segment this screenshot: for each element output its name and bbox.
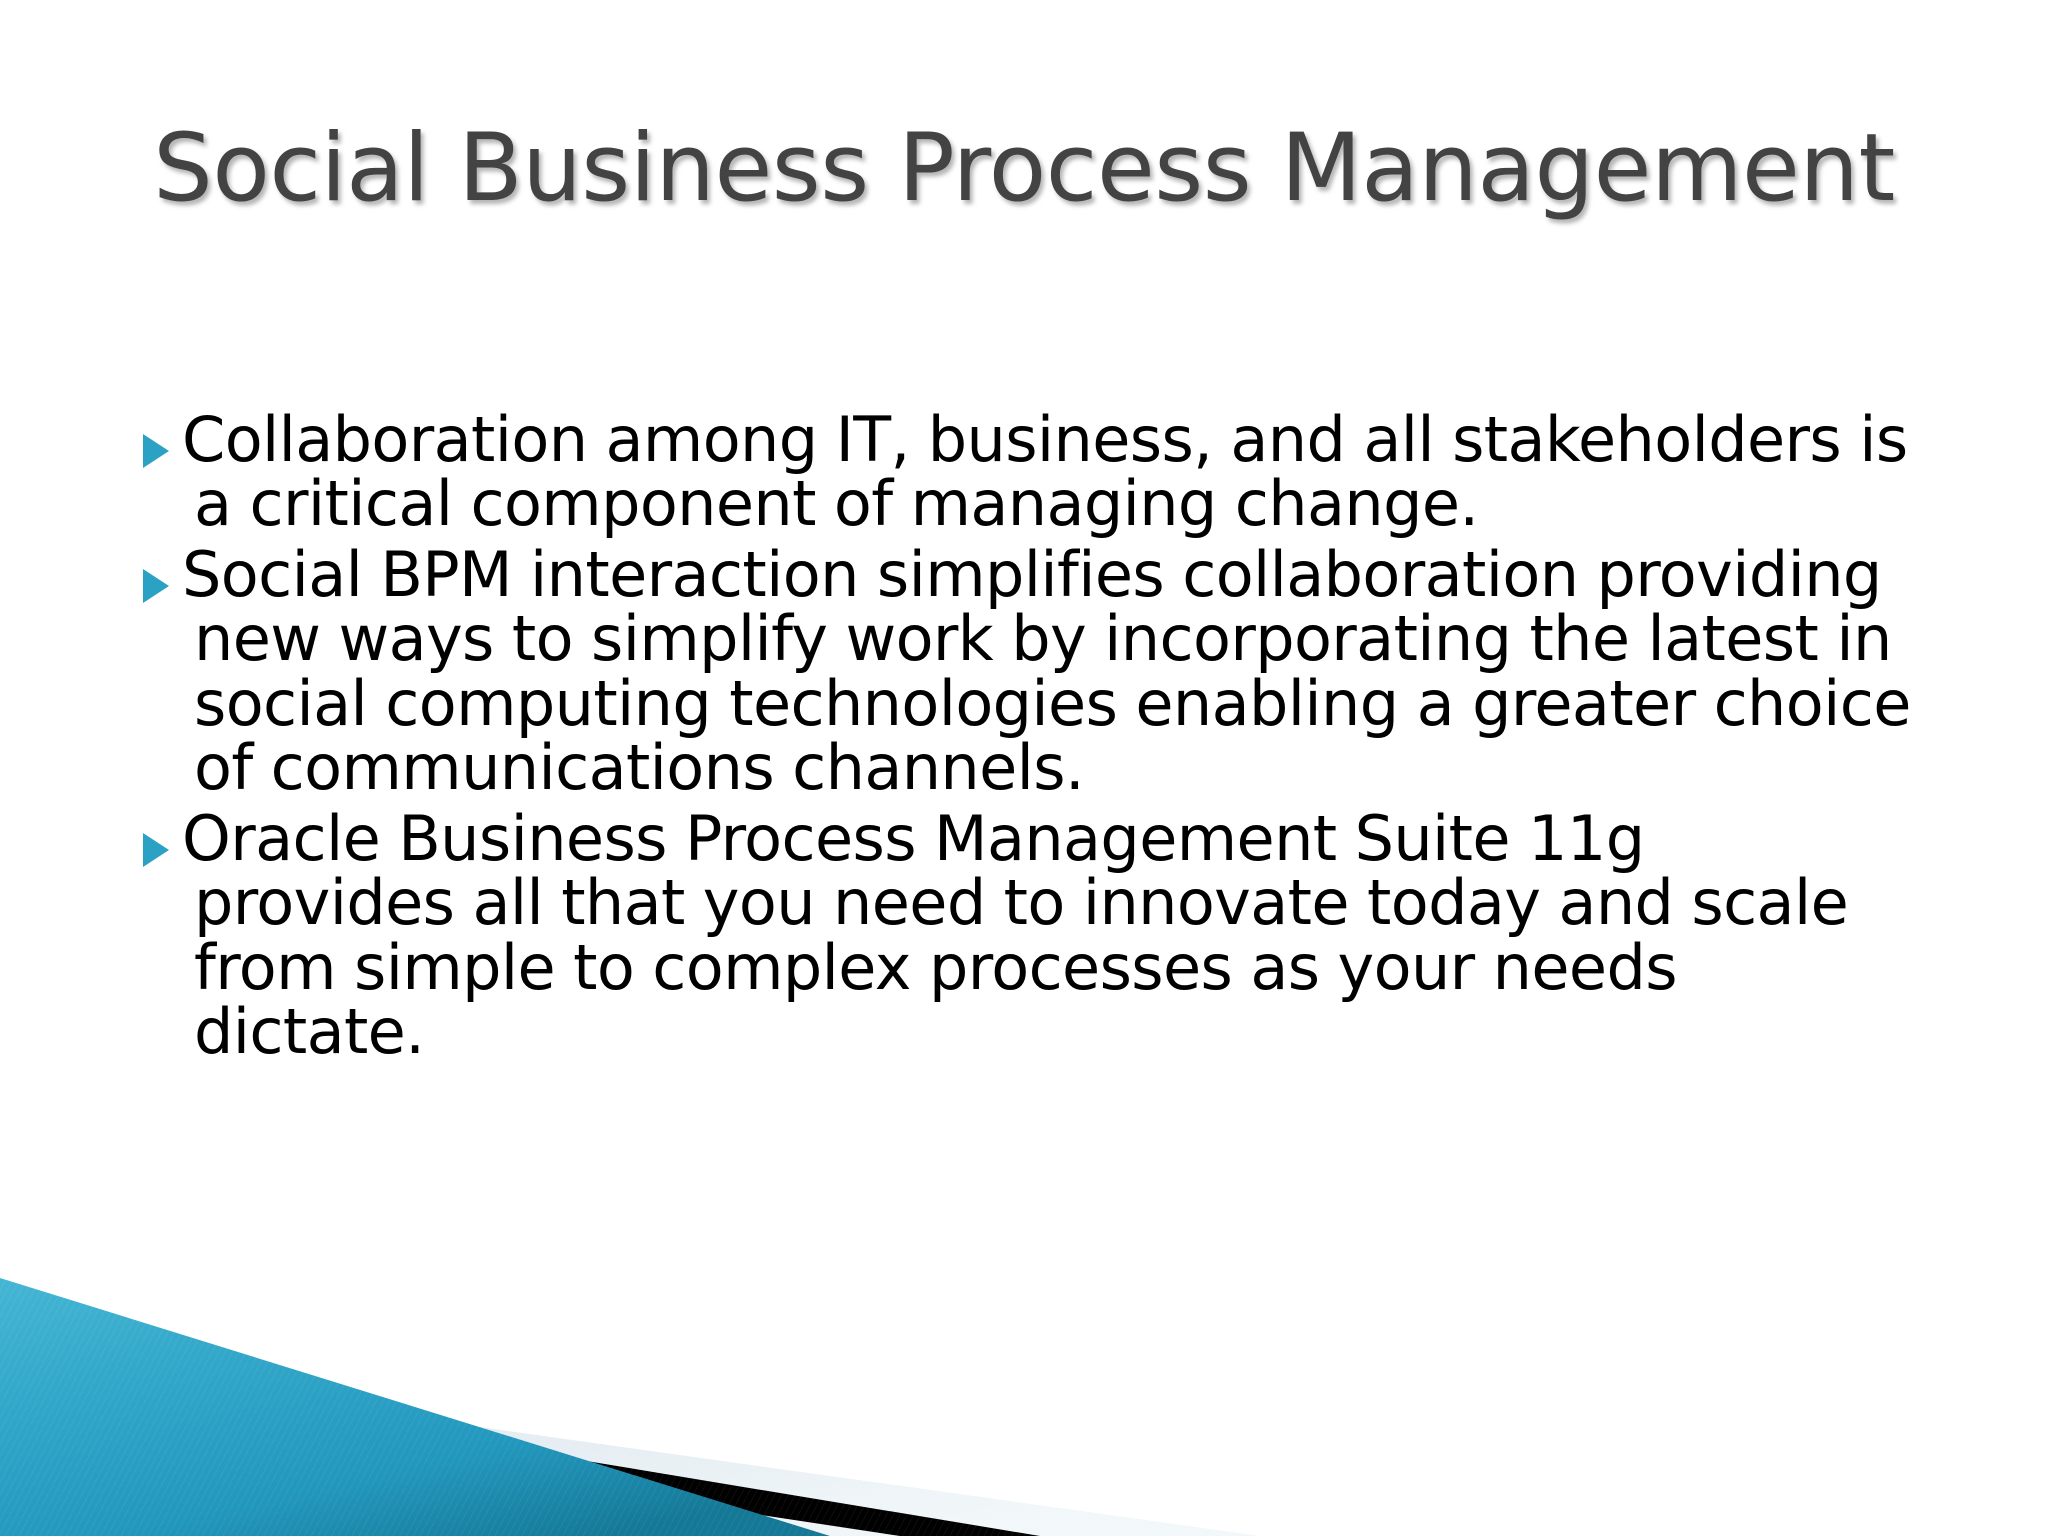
list-item-text: Oracle Business Process Management Suite… (182, 807, 1920, 1065)
slide-canvas: Social Business Process Management Colla… (0, 0, 2048, 1536)
pale-band-shape (0, 1360, 1260, 1536)
triangle-right-icon (130, 408, 182, 468)
list-item: Social BPM interaction simplifies collab… (130, 543, 1920, 801)
triangle-right-icon (130, 543, 182, 603)
page-title: Social Business Process Management (153, 120, 1895, 219)
banner-texture-overlay (0, 1264, 1260, 1536)
list-item-text: Social BPM interaction simplifies collab… (182, 543, 1920, 801)
bottom-left-diagonal-banner (0, 1264, 1260, 1536)
list-item: Collaboration among IT, business, and al… (130, 408, 1920, 537)
teal-triangle-shape (0, 1278, 830, 1536)
bullet-list: Collaboration among IT, business, and al… (130, 408, 1920, 1071)
list-item-text: Collaboration among IT, business, and al… (182, 408, 1920, 537)
title-container: Social Business Process Management (0, 120, 2048, 219)
list-item: Oracle Business Process Management Suite… (130, 807, 1920, 1065)
black-stripe-shape (0, 1364, 1040, 1536)
triangle-right-icon (130, 807, 182, 867)
